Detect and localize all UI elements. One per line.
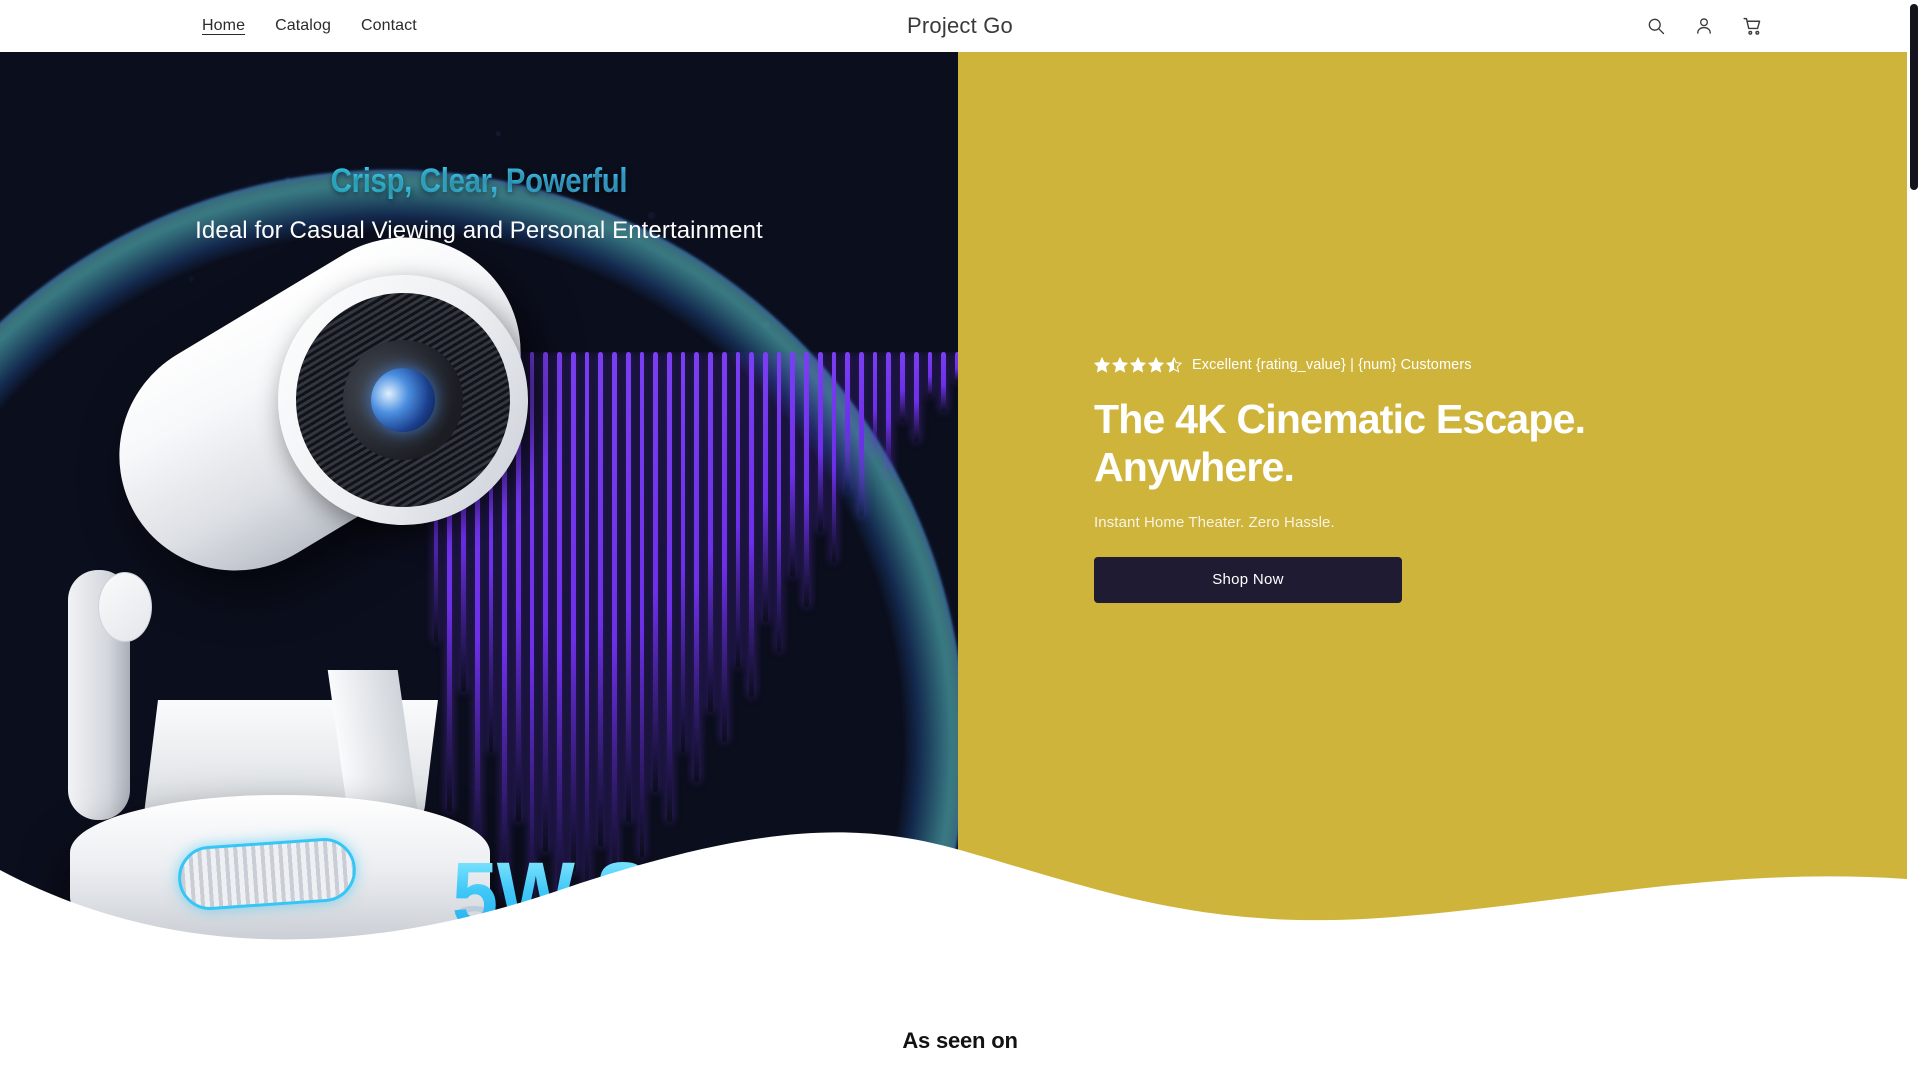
cart-icon[interactable]	[1739, 13, 1765, 39]
projector-hinge-knob	[98, 572, 152, 642]
waveform-bar	[873, 352, 878, 457]
rating-text: Excellent {rating_value} | {num} Custome…	[1192, 357, 1472, 373]
primary-navigation: Home Catalog Contact	[202, 0, 417, 52]
waveform-bar	[790, 352, 795, 577]
search-icon[interactable]	[1643, 13, 1669, 39]
hero-section: Crisp, Clear, Powerful Ideal for Casual …	[0, 52, 1920, 960]
as-seen-on-heading: As seen on	[0, 1028, 1920, 1054]
rating-star	[1130, 357, 1146, 373]
hero-subheading: Instant Home Theater. Zero Hassle.	[1094, 514, 1714, 531]
shop-now-button[interactable]: Shop Now	[1094, 557, 1402, 603]
hero-heading-line2: Anywhere.	[1094, 444, 1294, 490]
hero-content-panel: Excellent {rating_value} | {num} Custome…	[958, 52, 1920, 960]
waveform-bar	[804, 352, 809, 607]
rating-star	[1094, 357, 1110, 373]
hero-content-inner: Excellent {rating_value} | {num} Custome…	[1094, 357, 1714, 603]
hero-overlay-subtitle: Ideal for Casual Viewing and Personal En…	[0, 217, 958, 245]
waveform-bar	[722, 352, 727, 742]
waveform-bar	[900, 352, 905, 422]
hero-overlay-title: Crisp, Clear, Powerful	[67, 162, 891, 201]
account-icon[interactable]	[1691, 13, 1717, 39]
hero-heading: The 4K Cinematic Escape. Anywhere.	[1094, 395, 1714, 492]
rating-star	[1148, 357, 1164, 373]
waveform-bar	[818, 352, 823, 532]
hero-heading-line1: The 4K Cinematic Escape.	[1094, 396, 1585, 442]
waveform-bar	[736, 352, 741, 667]
rating-star	[1112, 357, 1128, 373]
waveform-bar	[914, 352, 919, 442]
waveform-bar	[763, 352, 768, 622]
waveform-bar	[749, 352, 754, 697]
hero-product-image: Crisp, Clear, Powerful Ideal for Casual …	[0, 52, 958, 960]
nav-link-catalog[interactable]: Catalog	[275, 15, 331, 37]
site-title-text[interactable]: Project Go	[907, 13, 1013, 39]
rating-stars	[1094, 357, 1182, 373]
waveform-bar	[859, 352, 864, 517]
waveform-bar	[941, 352, 946, 412]
waveform-bar	[832, 352, 837, 562]
site-header: Home Catalog Contact Project Go	[0, 0, 1920, 52]
nav-link-home[interactable]: Home	[202, 15, 245, 37]
waveform-bar	[777, 352, 782, 652]
waveform-bar	[845, 352, 850, 492]
waveform-bar	[928, 352, 933, 397]
header-actions	[1643, 0, 1765, 52]
rating-star	[1166, 357, 1182, 373]
rating-row: Excellent {rating_value} | {num} Custome…	[1094, 357, 1714, 373]
nav-link-contact[interactable]: Contact	[361, 15, 417, 37]
page-scrollbar-thumb[interactable]	[1910, 4, 1918, 190]
projector-speaker-grille	[176, 836, 358, 912]
hero-overlay-feature: 5W Speaker	[452, 852, 911, 939]
waveform-bar	[886, 352, 891, 477]
